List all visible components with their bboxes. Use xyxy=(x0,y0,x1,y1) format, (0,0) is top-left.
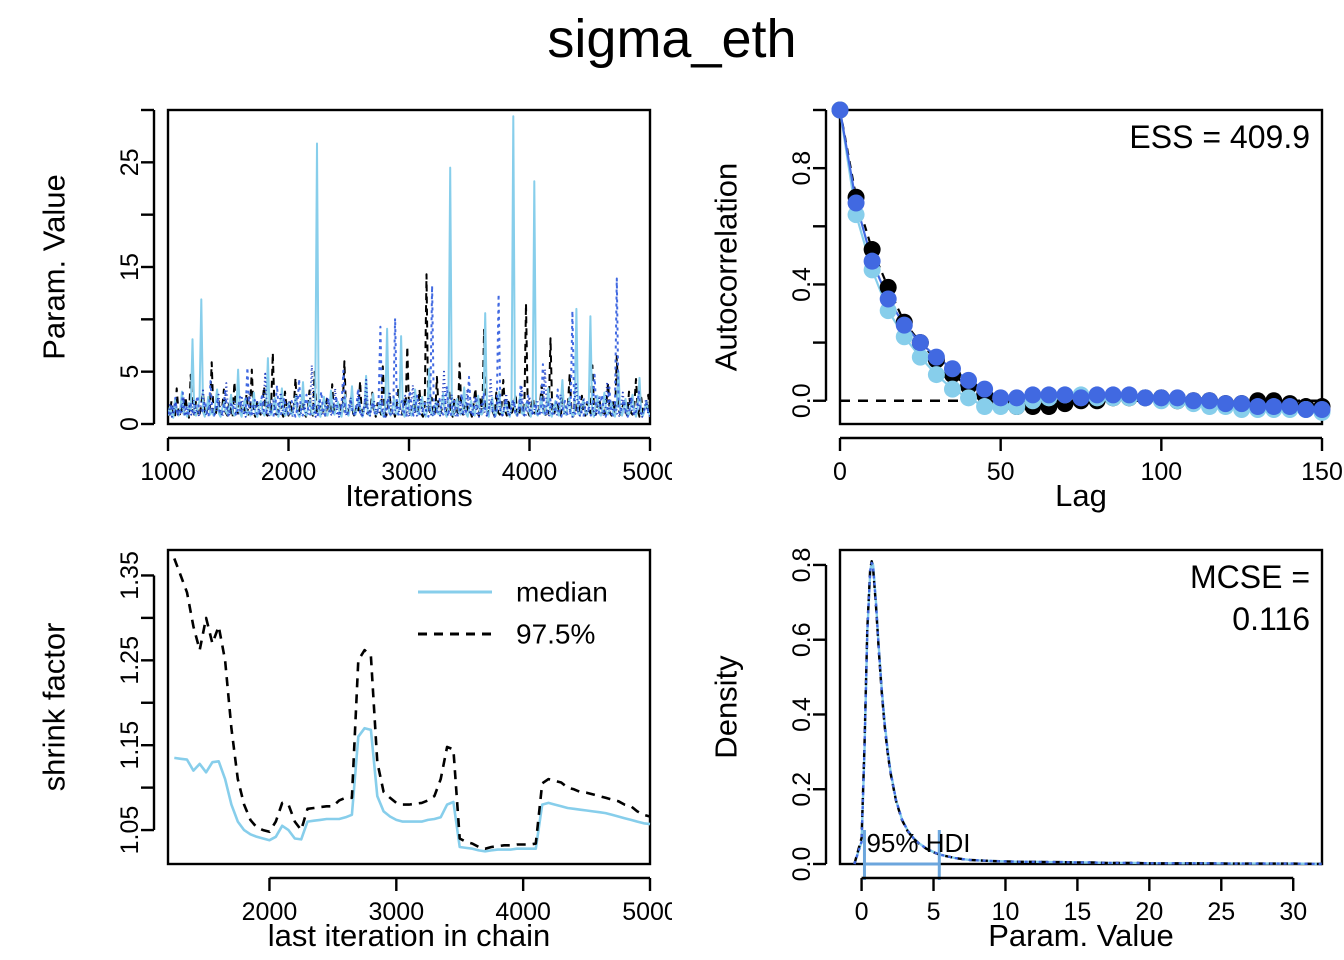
x-tick-label: 0 xyxy=(833,458,847,486)
acf-point xyxy=(1073,389,1090,406)
y-tick-label: 0.4 xyxy=(788,697,816,732)
x-axis-title: Param. Value xyxy=(988,918,1174,953)
y-tick-label: 0.6 xyxy=(788,622,816,657)
legend-label-97-5-: 97.5% xyxy=(516,619,595,650)
panel-density-plot: 95% HDI0510152025300.00.20.40.60.8Param.… xyxy=(672,532,1344,960)
y-tick-label: 15 xyxy=(116,253,144,281)
acf-point xyxy=(880,290,897,307)
x-axis-title: Iterations xyxy=(345,478,473,513)
plot-frame xyxy=(840,110,1322,424)
acf-point xyxy=(928,366,945,383)
plot-frame xyxy=(840,550,1322,864)
y-tick-label: 0 xyxy=(116,417,144,431)
x-tick-label: 30 xyxy=(1279,898,1307,926)
y-axis-title: shrink factor xyxy=(37,623,72,792)
acf-point xyxy=(944,360,961,377)
y-tick-label: 5 xyxy=(116,365,144,379)
acf-point xyxy=(1040,386,1057,403)
acf-point xyxy=(1233,395,1250,412)
acf-point xyxy=(1314,401,1331,418)
y-tick-label: 0.0 xyxy=(788,383,816,418)
y-tick-label: 1.15 xyxy=(116,721,144,770)
acf-point xyxy=(1024,386,1041,403)
y-tick-label: 0.4 xyxy=(788,267,816,302)
acf-point xyxy=(1056,386,1073,403)
ess-annotation: ESS = 409.9 xyxy=(1129,119,1310,155)
acf-point xyxy=(1153,389,1170,406)
acf-point xyxy=(928,349,945,366)
x-tick-label: 0 xyxy=(855,898,869,926)
shrink-line-median xyxy=(174,728,650,851)
y-tick-label: 1.05 xyxy=(116,806,144,855)
trace-lines xyxy=(168,116,650,417)
acf-point xyxy=(1169,389,1186,406)
acf-point xyxy=(848,195,865,212)
x-tick-label: 5000 xyxy=(622,458,672,486)
x-axis-title: Lag xyxy=(1055,478,1107,513)
x-tick-label: 1000 xyxy=(140,458,196,486)
acf-point xyxy=(1281,398,1298,415)
acf-line-chain-2 xyxy=(840,110,1322,412)
y-axis-title: Density xyxy=(709,655,744,759)
acf-point xyxy=(1201,392,1218,409)
acf-point xyxy=(1217,395,1234,412)
x-axis-title: last iteration in chain xyxy=(268,918,551,953)
mcse-annotation-line: 0.116 xyxy=(1232,601,1310,637)
legend-label-median: median xyxy=(516,577,608,608)
mcse-annotation-line: MCSE = xyxy=(1190,559,1310,595)
acf-point xyxy=(944,381,961,398)
x-tick-label: 25 xyxy=(1207,898,1235,926)
panel-autocorrelation-plot: 0501001500.00.40.8LagAutocorrelationESS … xyxy=(672,92,1344,520)
acf-point xyxy=(912,349,929,366)
figure-root: sigma_eth 10002000300040005000051525Iter… xyxy=(0,0,1344,960)
acf-point xyxy=(960,372,977,389)
x-tick-label: 50 xyxy=(987,458,1015,486)
acf-point xyxy=(1121,386,1138,403)
acf-point xyxy=(1105,386,1122,403)
acf-point xyxy=(1249,398,1266,415)
acf-point xyxy=(832,102,849,119)
acf-point xyxy=(1297,401,1314,418)
y-tick-label: 1.35 xyxy=(116,551,144,600)
acf-point xyxy=(1185,392,1202,409)
acf-point xyxy=(1265,398,1282,415)
y-axis-title: Autocorrelation xyxy=(709,163,744,372)
acf-point xyxy=(896,317,913,334)
acf-point xyxy=(1137,389,1154,406)
acf-point xyxy=(1089,386,1106,403)
y-tick-label: 0.0 xyxy=(788,847,816,882)
acf-point xyxy=(960,389,977,406)
y-tick-label: 25 xyxy=(116,148,144,176)
panel-shrink-factor-plot: 20003000400050001.051.151.251.35last ite… xyxy=(0,532,672,960)
x-tick-label: 5000 xyxy=(622,898,672,926)
panel-trace-plot: 10002000300040005000051525IterationsPara… xyxy=(0,92,672,520)
y-tick-label: 0.2 xyxy=(788,772,816,807)
acf-point xyxy=(976,381,993,398)
y-tick-label: 0.8 xyxy=(788,548,816,583)
acf-point xyxy=(1008,389,1025,406)
y-tick-label: 0.8 xyxy=(788,151,816,186)
acf-point xyxy=(912,334,929,351)
x-tick-label: 150 xyxy=(1301,458,1343,486)
acf-point xyxy=(864,253,881,270)
x-tick-label: 5 xyxy=(927,898,941,926)
x-tick-label: 4000 xyxy=(502,458,558,486)
y-axis-title: Param. Value xyxy=(37,174,72,360)
acf-point xyxy=(992,389,1009,406)
x-tick-label: 2000 xyxy=(261,458,317,486)
trace-line-chain-2 xyxy=(168,116,650,417)
acf-point xyxy=(976,398,993,415)
y-tick-label: 1.25 xyxy=(116,636,144,685)
page-title: sigma_eth xyxy=(0,8,1344,70)
hdi-label: 95% HDI xyxy=(866,828,970,858)
x-tick-label: 100 xyxy=(1140,458,1182,486)
